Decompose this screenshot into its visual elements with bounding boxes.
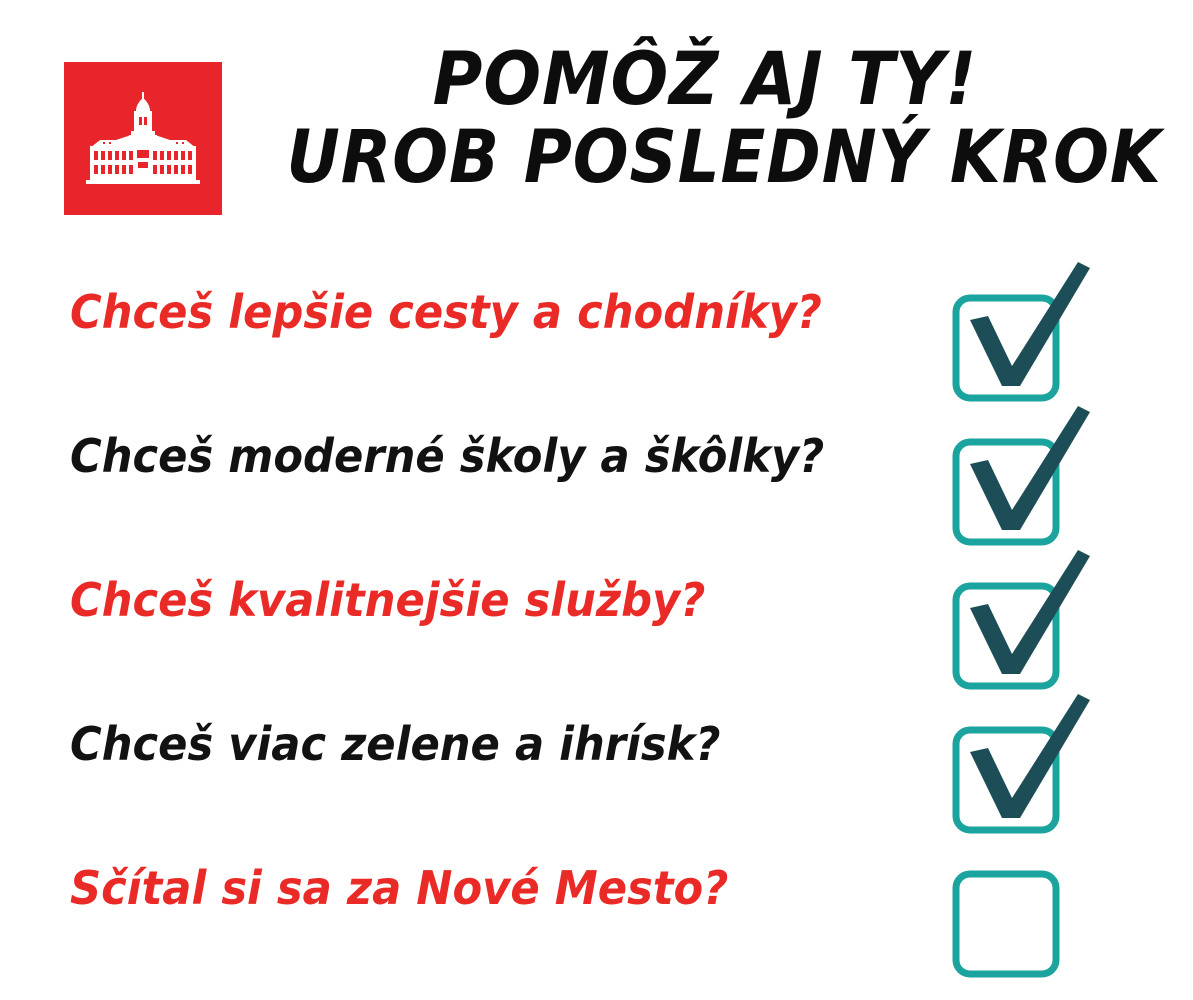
poster-header: POMÔŽ AJ TY! UROB POSLEDNÝ KROK <box>0 0 1193 240</box>
checkmark-icon <box>970 262 1090 386</box>
checkbox-unchecked[interactable] <box>950 834 1110 954</box>
checkbox-checked[interactable] <box>950 402 1110 522</box>
title-line-1: POMÔŽ AJ TY! <box>273 44 1138 116</box>
city-logo-badge <box>64 62 222 215</box>
checkbox-checked[interactable] <box>950 546 1110 666</box>
checklist-item: Chceš lepšie cesty a chodníky? <box>0 240 1193 384</box>
checklist: Chceš lepšie cesty a chodníky? Chceš mod… <box>0 240 1193 960</box>
checklist-question-label: Chceš viac zelene a ihrísk? <box>70 719 878 770</box>
checklist-item: Chceš moderné školy a škôlky? <box>0 384 1193 528</box>
checklist-question-label: Sčítal si sa za Nové Mesto? <box>70 863 878 914</box>
checklist-question-label: Chceš moderné školy a škôlky? <box>70 431 878 482</box>
title-line-2: UROB POSLEDNÝ KROK <box>287 122 1124 194</box>
poster-title: POMÔŽ AJ TY! UROB POSLEDNÝ KROK <box>240 44 1170 193</box>
manor-building-icon <box>82 90 204 188</box>
checkmark-icon <box>970 550 1090 674</box>
checklist-item: Chceš viac zelene a ihrísk? <box>0 672 1193 816</box>
checkmark-icon <box>970 406 1090 530</box>
checkmark-icon <box>970 694 1090 818</box>
checkbox-checked[interactable] <box>950 258 1110 378</box>
checklist-item: Sčítal si sa za Nové Mesto? <box>0 816 1193 960</box>
checklist-item: Chceš kvalitnejšie služby? <box>0 528 1193 672</box>
checkbox-box-icon <box>956 874 1056 974</box>
checklist-question-label: Chceš kvalitnejšie služby? <box>70 575 878 626</box>
poster-canvas: POMÔŽ AJ TY! UROB POSLEDNÝ KROK Chceš le… <box>0 0 1193 1000</box>
checklist-question-label: Chceš lepšie cesty a chodníky? <box>70 287 878 338</box>
checkbox-checked[interactable] <box>950 690 1110 810</box>
